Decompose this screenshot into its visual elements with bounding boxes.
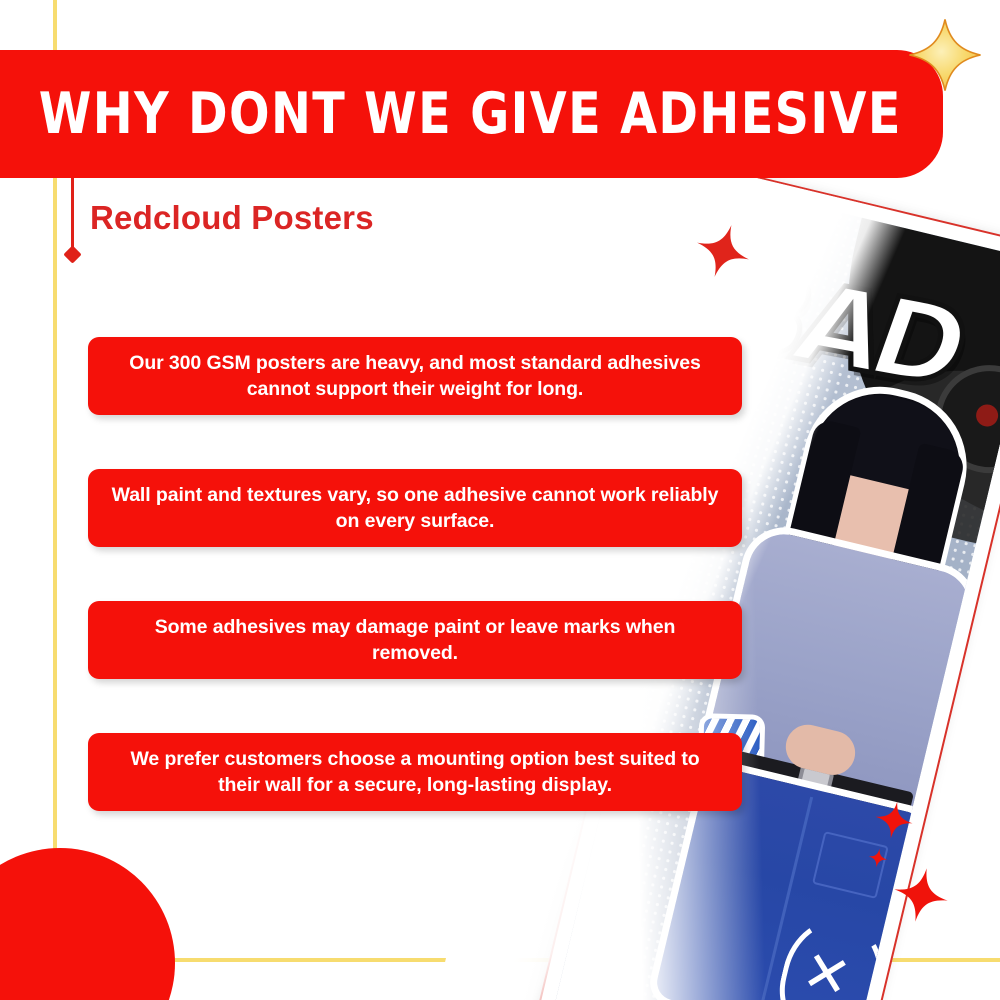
bullet-text-1: Our 300 GSM posters are heavy, and most … (110, 350, 720, 403)
poster-canvas: BAD ✕ (0, 0, 1000, 1000)
sparkle-icon-red-1 (694, 222, 752, 280)
sparkle-icon-red-2 (874, 800, 914, 840)
bullet-item-1[interactable]: Our 300 GSM posters are heavy, and most … (88, 337, 742, 415)
bullet-item-3[interactable]: Some adhesives may damage paint or leave… (88, 601, 742, 679)
header-banner: WHY DONT WE GIVE ADHESIVE (0, 50, 943, 178)
bullet-text-4: We prefer customers choose a mounting op… (110, 746, 720, 799)
arrow-line (71, 178, 74, 252)
red-circle-decoration (0, 848, 175, 1000)
bullet-list: Our 300 GSM posters are heavy, and most … (88, 337, 742, 865)
page-title: WHY DONT WE GIVE ADHESIVE (21, 86, 903, 143)
bullet-item-4[interactable]: We prefer customers choose a mounting op… (88, 733, 742, 811)
bullet-text-3: Some adhesives may damage paint or leave… (110, 614, 720, 667)
bullet-text-2: Wall paint and textures vary, so one adh… (110, 482, 720, 535)
sparkle-icon-red-4 (892, 866, 950, 924)
bullet-item-2[interactable]: Wall paint and textures vary, so one adh… (88, 469, 742, 547)
sparkle-icon-red-3 (868, 848, 888, 868)
arrow-head-icon (63, 245, 81, 263)
subtitle: Redcloud Posters (90, 199, 374, 237)
sparkle-icon-gold (908, 18, 982, 92)
